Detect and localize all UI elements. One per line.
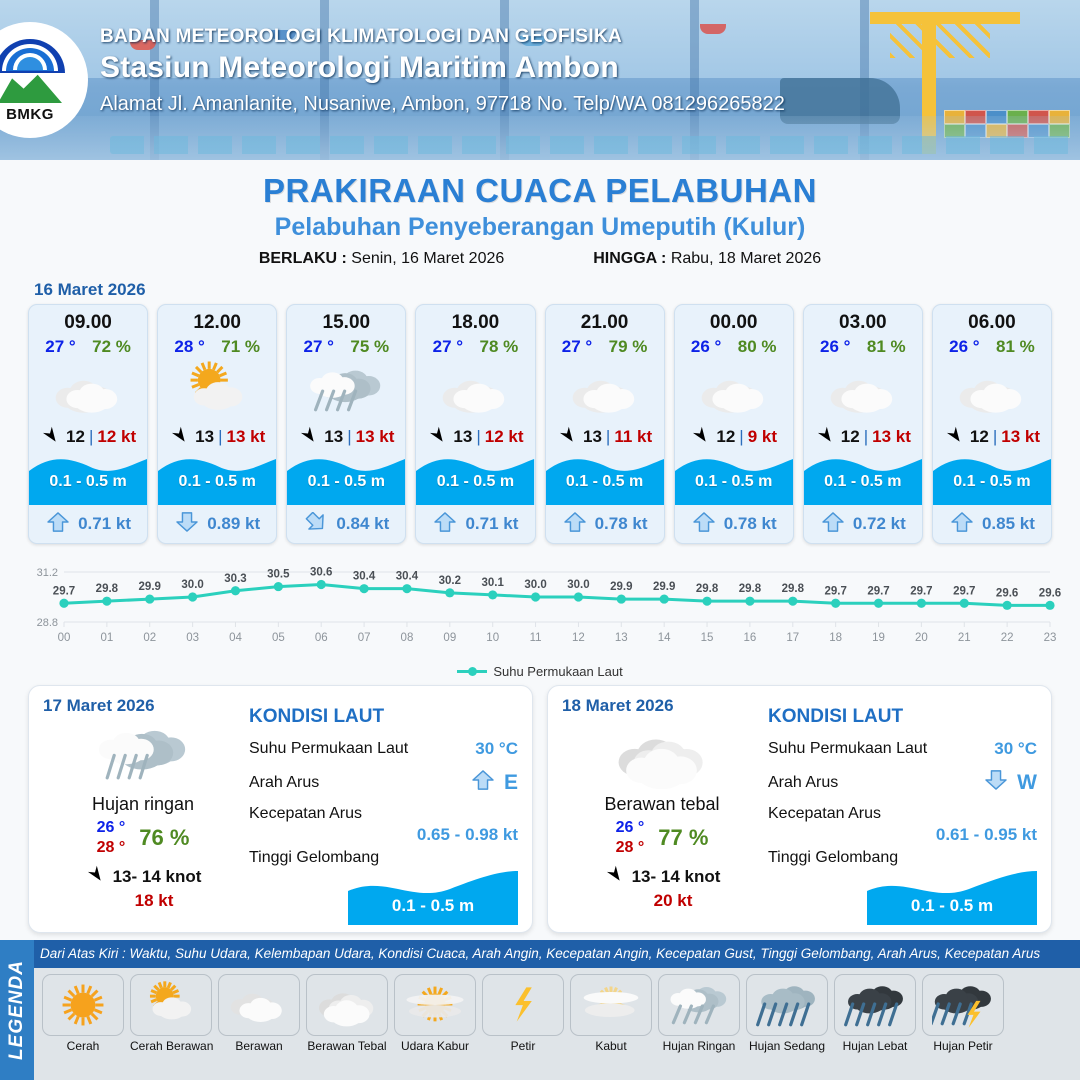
wind-direction-arrow-icon bbox=[85, 865, 107, 888]
valid-from-label: BERLAKU : bbox=[259, 250, 347, 267]
card-wind-row: 12 | 13 kt bbox=[933, 421, 1051, 453]
chart-legend: Suhu Permukaan Laut bbox=[0, 664, 1080, 679]
daily-wave-graphic: 0.1 - 0.5 m bbox=[867, 869, 1037, 925]
legend-item: Hujan Petir bbox=[922, 974, 1004, 1053]
legend-item-label: Hujan Lebat bbox=[834, 1039, 916, 1053]
current-direction-arrow-icon bbox=[470, 770, 496, 795]
wave-height-label: Tinggi Gelombang bbox=[768, 849, 1037, 867]
svg-text:28.8: 28.8 bbox=[37, 617, 58, 629]
legend-icon-hujan-petir bbox=[922, 974, 1004, 1036]
card-gust: 13 kt bbox=[226, 427, 265, 447]
forecast-card: 09.00 27 ° 72 % 12 | 12 kt 0.1 - 0.5 m bbox=[28, 304, 148, 544]
daily-humidity: 77 % bbox=[658, 825, 708, 851]
legend-icon-hujan-ringan bbox=[658, 974, 740, 1036]
current-direction-arrow-icon bbox=[691, 512, 717, 537]
legend-icon-cerah-berawan bbox=[130, 974, 212, 1036]
svg-text:30.4: 30.4 bbox=[353, 571, 376, 583]
validity-line: BERLAKU : Senin, 16 Maret 2026 HINGGA : … bbox=[0, 250, 1080, 268]
svg-text:20: 20 bbox=[915, 632, 928, 644]
legend-icon-petir bbox=[482, 974, 564, 1036]
hourly-date-label: 16 Maret 2026 bbox=[34, 280, 1080, 300]
chart-legend-label: Suhu Permukaan Laut bbox=[493, 664, 622, 679]
forecast-card: 15.00 27 ° 75 % 13 | 13 kt 0 bbox=[286, 304, 406, 544]
forecast-card: 06.00 26 ° 81 % 12 | 13 kt 0.1 - 0.5 m bbox=[932, 304, 1052, 544]
card-wind-row: 12 | 12 kt bbox=[29, 421, 147, 453]
card-temperature: 28 ° bbox=[174, 337, 204, 357]
legend-item: Hujan Lebat bbox=[834, 974, 916, 1053]
card-wave: 0.1 - 0.5 m bbox=[675, 453, 793, 505]
card-wave: 0.1 - 0.5 m bbox=[933, 453, 1051, 505]
svg-text:29.7: 29.7 bbox=[824, 585, 846, 597]
svg-text:23: 23 bbox=[1044, 632, 1057, 644]
legend-icon-hujan-lebat bbox=[834, 974, 916, 1036]
svg-text:30.5: 30.5 bbox=[267, 569, 290, 581]
svg-text:30.0: 30.0 bbox=[181, 579, 203, 591]
legend-item-label: Petir bbox=[482, 1039, 564, 1053]
legend-icon-cerah bbox=[42, 974, 124, 1036]
card-wind-speed: 12 bbox=[841, 427, 860, 447]
legend-item-label: Udara Kabur bbox=[394, 1039, 476, 1053]
legend-side-tab: LEGENDA bbox=[0, 940, 34, 1080]
card-wind-row: 12 | 9 kt bbox=[675, 421, 793, 453]
forecast-card: 00.00 26 ° 80 % 12 | 9 kt 0.1 - 0.5 m bbox=[674, 304, 794, 544]
svg-text:12: 12 bbox=[572, 632, 585, 644]
legend-item: Berawan Tebal bbox=[306, 974, 388, 1053]
current-direction-value: W bbox=[1017, 771, 1037, 795]
forecast-card: 21.00 27 ° 79 % 13 | 11 kt 0.1 - 0.5 m bbox=[545, 304, 665, 544]
station-address: Alamat Jl. Amanlanite, Nusaniwe, Ambon, … bbox=[100, 93, 1000, 116]
agency-name: BADAN METEOROLOGI KLIMATOLOGI DAN GEOFIS… bbox=[100, 26, 1000, 48]
card-wind-separator: | bbox=[476, 427, 480, 447]
wind-direction-arrow-icon bbox=[815, 426, 837, 449]
card-gust: 11 kt bbox=[614, 427, 652, 447]
svg-text:08: 08 bbox=[401, 632, 414, 644]
svg-text:05: 05 bbox=[272, 632, 285, 644]
svg-text:30.0: 30.0 bbox=[567, 579, 589, 591]
svg-text:30.2: 30.2 bbox=[439, 575, 461, 587]
current-direction-label: Arah Arus bbox=[768, 774, 838, 792]
wind-direction-arrow-icon bbox=[169, 426, 191, 449]
card-wind-speed: 13 bbox=[453, 427, 472, 447]
title-block: PRAKIRAAN CUACA PELABUHAN Pelabuhan Peny… bbox=[0, 160, 1080, 268]
svg-text:21: 21 bbox=[958, 632, 971, 644]
legend-item: Cerah bbox=[42, 974, 124, 1053]
legend-item: Hujan Ringan bbox=[658, 974, 740, 1053]
legend-panel: Cerah Cerah Berawan Berawan Berawan bbox=[34, 968, 1080, 1080]
card-gust: 13 kt bbox=[1001, 427, 1040, 447]
card-wave-height: 0.1 - 0.5 m bbox=[675, 473, 793, 491]
forecast-card: 03.00 26 ° 81 % 12 | 13 kt 0.1 - 0.5 m bbox=[803, 304, 923, 544]
svg-text:14: 14 bbox=[658, 632, 671, 644]
weather-condition-icon bbox=[933, 359, 1051, 421]
current-direction-value: E bbox=[504, 771, 518, 795]
weather-condition-icon bbox=[804, 359, 922, 421]
daily-humidity: 76 % bbox=[139, 825, 189, 851]
svg-text:29.9: 29.9 bbox=[653, 581, 675, 593]
card-current-row: 0.84 kt bbox=[287, 505, 405, 543]
card-current-speed: 0.71 kt bbox=[465, 514, 518, 534]
sst-value: 30 °C bbox=[475, 739, 518, 759]
svg-text:19: 19 bbox=[872, 632, 885, 644]
page-title: PRAKIRAAN CUACA PELABUHAN bbox=[0, 172, 1080, 210]
legend-icon-kabut bbox=[570, 974, 652, 1036]
weather-condition-icon bbox=[287, 359, 405, 421]
card-humidity: 81 % bbox=[867, 337, 906, 357]
card-time: 15.00 bbox=[287, 305, 405, 334]
sst-chart: 31.228.829.70029.80129.90230.00330.30430… bbox=[18, 558, 1062, 662]
card-gust: 13 kt bbox=[356, 427, 395, 447]
forecast-card: 18.00 27 ° 78 % 13 | 12 kt 0.1 - 0.5 m bbox=[415, 304, 535, 544]
card-wave-height: 0.1 - 0.5 m bbox=[416, 473, 534, 491]
current-direction-arrow-icon bbox=[303, 512, 329, 537]
svg-text:30.1: 30.1 bbox=[482, 577, 505, 589]
svg-text:17: 17 bbox=[786, 632, 799, 644]
weather-condition-icon bbox=[416, 359, 534, 421]
svg-text:16: 16 bbox=[744, 632, 757, 644]
legend-icon-berawan-legend bbox=[218, 974, 300, 1036]
current-speed-value: 0.61 - 0.95 kt bbox=[768, 825, 1037, 845]
sst-value: 30 °C bbox=[994, 739, 1037, 759]
svg-text:31.2: 31.2 bbox=[37, 567, 58, 579]
daily-wave-height: 0.1 - 0.5 m bbox=[867, 896, 1037, 916]
svg-text:29.8: 29.8 bbox=[96, 583, 119, 595]
card-wave-height: 0.1 - 0.5 m bbox=[804, 473, 922, 491]
daily-forecast-panel: 18 Maret 2026 Berawan tebal 26 ° 28 ° 77… bbox=[547, 685, 1052, 933]
card-wave: 0.1 - 0.5 m bbox=[29, 453, 147, 505]
legend-icon-berawan-tebal bbox=[306, 974, 388, 1036]
card-wave-height: 0.1 - 0.5 m bbox=[158, 473, 276, 491]
card-time: 18.00 bbox=[416, 305, 534, 334]
card-gust: 12 kt bbox=[485, 427, 524, 447]
card-gust: 12 kt bbox=[97, 427, 136, 447]
current-speed-value: 0.65 - 0.98 kt bbox=[249, 825, 518, 845]
svg-text:07: 07 bbox=[358, 632, 371, 644]
card-current-row: 0.85 kt bbox=[933, 505, 1051, 543]
svg-text:15: 15 bbox=[701, 632, 714, 644]
svg-text:29.8: 29.8 bbox=[739, 583, 762, 595]
card-temperature: 27 ° bbox=[562, 337, 592, 357]
legend-item: Udara Kabur bbox=[394, 974, 476, 1053]
card-wind-separator: | bbox=[864, 427, 868, 447]
daily-forecast-panel: 17 Maret 2026 Hujan ringan 26 ° 28 ° 76 … bbox=[28, 685, 533, 933]
card-humidity: 78 % bbox=[480, 337, 519, 357]
legend-item-label: Hujan Sedang bbox=[746, 1039, 828, 1053]
card-wave-height: 0.1 - 0.5 m bbox=[287, 473, 405, 491]
wind-direction-arrow-icon bbox=[557, 426, 579, 449]
legend-item: Petir bbox=[482, 974, 564, 1053]
card-wind-speed: 13 bbox=[324, 427, 343, 447]
card-current-row: 0.78 kt bbox=[546, 505, 664, 543]
sst-label: Suhu Permukaan Laut bbox=[249, 740, 408, 758]
daily-temp-max: 28 ° bbox=[616, 839, 645, 857]
current-direction-arrow-icon bbox=[949, 512, 975, 537]
svg-text:00: 00 bbox=[58, 632, 71, 644]
card-wind-row: 13 | 13 kt bbox=[287, 421, 405, 453]
svg-text:18: 18 bbox=[829, 632, 842, 644]
card-humidity: 72 % bbox=[92, 337, 131, 357]
card-temperature: 26 ° bbox=[820, 337, 850, 357]
legend-item-label: Cerah bbox=[42, 1039, 124, 1053]
sst-label: Suhu Permukaan Laut bbox=[768, 740, 927, 758]
daily-temp-min: 26 ° bbox=[616, 819, 645, 837]
daily-wind: 13- 14 knot bbox=[632, 867, 721, 887]
card-time: 00.00 bbox=[675, 305, 793, 334]
card-temperature: 26 ° bbox=[949, 337, 979, 357]
current-speed-label: Kecepatan Arus bbox=[249, 805, 518, 823]
svg-text:29.7: 29.7 bbox=[53, 585, 75, 597]
card-wind-speed: 12 bbox=[970, 427, 989, 447]
current-speed-label: Kecepatan Arus bbox=[768, 805, 1037, 823]
logo-mountain-icon bbox=[0, 73, 62, 103]
card-time: 06.00 bbox=[933, 305, 1051, 334]
card-wind-row: 13 | 13 kt bbox=[158, 421, 276, 453]
svg-text:30.3: 30.3 bbox=[224, 573, 246, 585]
page-subtitle: Pelabuhan Penyeberangan Umeputih (Kulur) bbox=[0, 213, 1080, 242]
weather-condition-icon bbox=[158, 359, 276, 421]
card-current-speed: 0.72 kt bbox=[853, 514, 906, 534]
card-wind-separator: | bbox=[347, 427, 351, 447]
wind-direction-arrow-icon bbox=[40, 426, 62, 449]
daily-weather-icon bbox=[43, 718, 243, 790]
card-gust: 9 kt bbox=[748, 427, 777, 447]
daily-date: 18 Maret 2026 bbox=[562, 696, 762, 716]
card-humidity: 81 % bbox=[996, 337, 1035, 357]
current-direction-arrow-icon bbox=[432, 512, 458, 537]
daily-gust: 20 kt bbox=[562, 891, 762, 911]
svg-text:29.6: 29.6 bbox=[996, 587, 1018, 599]
svg-text:13: 13 bbox=[615, 632, 628, 644]
current-direction-arrow-icon bbox=[820, 512, 846, 537]
svg-text:11: 11 bbox=[530, 632, 542, 644]
card-wind-row: 13 | 12 kt bbox=[416, 421, 534, 453]
weather-condition-icon bbox=[29, 359, 147, 421]
card-temperature: 26 ° bbox=[691, 337, 721, 357]
svg-text:29.7: 29.7 bbox=[910, 585, 932, 597]
weather-condition-icon bbox=[546, 359, 664, 421]
card-time: 09.00 bbox=[29, 305, 147, 334]
svg-text:10: 10 bbox=[486, 632, 499, 644]
wave-height-label: Tinggi Gelombang bbox=[249, 849, 518, 867]
svg-text:01: 01 bbox=[100, 632, 113, 644]
card-humidity: 75 % bbox=[350, 337, 389, 357]
legend-item-label: Hujan Ringan bbox=[658, 1039, 740, 1053]
sea-conditions-title: KONDISI LAUT bbox=[768, 706, 1037, 728]
svg-text:29.8: 29.8 bbox=[696, 583, 719, 595]
legend-item: Hujan Sedang bbox=[746, 974, 828, 1053]
svg-text:04: 04 bbox=[229, 632, 242, 644]
current-direction-arrow-icon bbox=[45, 512, 71, 537]
daily-forecast-row: 17 Maret 2026 Hujan ringan 26 ° 28 ° 76 … bbox=[0, 679, 1080, 933]
legend-item-label: Kabut bbox=[570, 1039, 652, 1053]
card-wind-separator: | bbox=[606, 427, 610, 447]
wind-direction-arrow-icon bbox=[427, 426, 449, 449]
svg-text:29.7: 29.7 bbox=[867, 585, 889, 597]
wind-direction-arrow-icon bbox=[690, 426, 712, 449]
card-time: 21.00 bbox=[546, 305, 664, 334]
card-wave: 0.1 - 0.5 m bbox=[158, 453, 276, 505]
legend-item-label: Berawan Tebal bbox=[306, 1039, 388, 1053]
card-current-speed: 0.84 kt bbox=[336, 514, 389, 534]
svg-text:29.9: 29.9 bbox=[610, 581, 632, 593]
card-humidity: 80 % bbox=[738, 337, 777, 357]
card-wind-separator: | bbox=[89, 427, 93, 447]
daily-condition: Hujan ringan bbox=[43, 794, 243, 815]
svg-text:30.6: 30.6 bbox=[310, 567, 332, 579]
card-current-row: 0.71 kt bbox=[416, 505, 534, 543]
card-current-speed: 0.78 kt bbox=[724, 514, 777, 534]
daily-wave-height: 0.1 - 0.5 m bbox=[348, 896, 518, 916]
card-wind-speed: 13 bbox=[583, 427, 602, 447]
card-wave: 0.1 - 0.5 m bbox=[287, 453, 405, 505]
page-header: BMKG BADAN METEOROLOGI KLIMATOLOGI DAN G… bbox=[0, 0, 1080, 160]
station-name: Stasiun Meteorologi Maritim Ambon bbox=[100, 51, 1000, 85]
current-direction-arrow-icon bbox=[174, 512, 200, 537]
legend-bar: LEGENDA Dari Atas Kiri : Waktu, Suhu Uda… bbox=[0, 940, 1080, 1080]
card-wave-height: 0.1 - 0.5 m bbox=[29, 473, 147, 491]
svg-text:29.7: 29.7 bbox=[953, 585, 975, 597]
daily-temp-min: 26 ° bbox=[97, 819, 126, 837]
legend-item: Berawan bbox=[218, 974, 300, 1053]
current-direction-label: Arah Arus bbox=[249, 774, 319, 792]
daily-gust: 18 kt bbox=[43, 891, 243, 911]
card-wind-separator: | bbox=[993, 427, 997, 447]
svg-text:09: 09 bbox=[443, 632, 456, 644]
daily-temp-max: 28 ° bbox=[97, 839, 126, 857]
svg-text:03: 03 bbox=[186, 632, 199, 644]
card-wave: 0.1 - 0.5 m bbox=[804, 453, 922, 505]
weather-condition-icon bbox=[675, 359, 793, 421]
legend-item: Cerah Berawan bbox=[130, 974, 212, 1053]
sea-conditions-title: KONDISI LAUT bbox=[249, 706, 518, 728]
card-current-row: 0.89 kt bbox=[158, 505, 276, 543]
card-wind-row: 12 | 13 kt bbox=[804, 421, 922, 453]
card-wave: 0.1 - 0.5 m bbox=[416, 453, 534, 505]
card-wind-speed: 12 bbox=[716, 427, 735, 447]
legend-icon-hujan-sedang bbox=[746, 974, 828, 1036]
card-current-row: 0.72 kt bbox=[804, 505, 922, 543]
chart-legend-marker bbox=[457, 670, 487, 673]
card-current-speed: 0.71 kt bbox=[78, 514, 131, 534]
card-current-speed: 0.85 kt bbox=[982, 514, 1035, 534]
daily-date: 17 Maret 2026 bbox=[43, 696, 243, 716]
card-current-speed: 0.78 kt bbox=[595, 514, 648, 534]
wind-direction-arrow-icon bbox=[298, 426, 320, 449]
daily-condition: Berawan tebal bbox=[562, 794, 762, 815]
legend-icon-udara-kabur bbox=[394, 974, 476, 1036]
card-wind-row: 13 | 11 kt bbox=[546, 421, 664, 453]
svg-text:29.9: 29.9 bbox=[139, 581, 161, 593]
current-direction-arrow-icon bbox=[562, 512, 588, 537]
daily-wave-graphic: 0.1 - 0.5 m bbox=[348, 869, 518, 925]
card-wave-height: 0.1 - 0.5 m bbox=[546, 473, 664, 491]
card-temperature: 27 ° bbox=[433, 337, 463, 357]
legend-item-label: Hujan Petir bbox=[922, 1039, 1004, 1053]
legend-item-label: Cerah Berawan bbox=[130, 1039, 212, 1053]
legend-side-label: LEGENDA bbox=[6, 960, 28, 1060]
card-wind-separator: | bbox=[218, 427, 222, 447]
wind-direction-arrow-icon bbox=[604, 865, 626, 888]
logo-arcs-icon bbox=[0, 39, 66, 75]
card-wind-speed: 12 bbox=[66, 427, 85, 447]
svg-text:29.6: 29.6 bbox=[1039, 587, 1061, 599]
valid-until-value: Rabu, 18 Maret 2026 bbox=[671, 250, 821, 267]
svg-text:22: 22 bbox=[1001, 632, 1014, 644]
card-time: 12.00 bbox=[158, 305, 276, 334]
card-wave-height: 0.1 - 0.5 m bbox=[933, 473, 1051, 491]
daily-wind: 13- 14 knot bbox=[113, 867, 202, 887]
card-current-speed: 0.89 kt bbox=[207, 514, 260, 534]
card-wave: 0.1 - 0.5 m bbox=[546, 453, 664, 505]
legend-item: Kabut bbox=[570, 974, 652, 1053]
hourly-forecast-row: 09.00 27 ° 72 % 12 | 12 kt 0.1 - 0.5 m bbox=[0, 304, 1080, 544]
daily-weather-icon bbox=[562, 718, 762, 790]
svg-text:29.8: 29.8 bbox=[782, 583, 805, 595]
card-gust: 13 kt bbox=[872, 427, 911, 447]
svg-text:30.0: 30.0 bbox=[524, 579, 546, 591]
svg-text:06: 06 bbox=[315, 632, 328, 644]
card-time: 03.00 bbox=[804, 305, 922, 334]
card-current-row: 0.71 kt bbox=[29, 505, 147, 543]
card-temperature: 27 ° bbox=[303, 337, 333, 357]
wind-direction-arrow-icon bbox=[944, 426, 966, 449]
svg-text:30.4: 30.4 bbox=[396, 571, 419, 583]
legend-note: Dari Atas Kiri : Waktu, Suhu Udara, Kele… bbox=[40, 946, 1075, 961]
card-current-row: 0.78 kt bbox=[675, 505, 793, 543]
svg-text:02: 02 bbox=[143, 632, 156, 644]
logo-text: BMKG bbox=[0, 106, 66, 123]
valid-until-label: HINGGA : bbox=[593, 250, 666, 267]
card-wind-separator: | bbox=[739, 427, 743, 447]
card-temperature: 27 ° bbox=[45, 337, 75, 357]
current-direction-arrow-icon bbox=[983, 770, 1009, 795]
terminal-seating-icon bbox=[110, 136, 1070, 154]
card-humidity: 79 % bbox=[609, 337, 648, 357]
card-wind-speed: 13 bbox=[195, 427, 214, 447]
valid-from-value: Senin, 16 Maret 2026 bbox=[351, 250, 504, 267]
forecast-card: 12.00 28 ° 71 % 13 | 13 kt 0.1 - 0.5 m bbox=[157, 304, 277, 544]
card-humidity: 71 % bbox=[221, 337, 260, 357]
legend-item-label: Berawan bbox=[218, 1039, 300, 1053]
